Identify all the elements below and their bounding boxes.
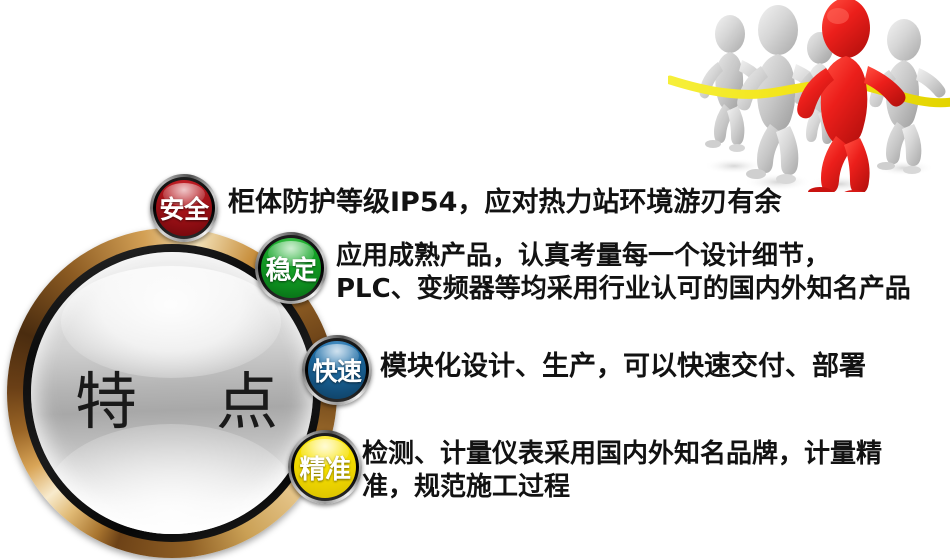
- badge-precision[interactable]: 精准: [288, 430, 362, 504]
- badge-speed[interactable]: 快速: [302, 335, 372, 405]
- badge-label: 精准: [288, 430, 362, 504]
- bullet-text-speed: 模块化设计、生产，可以快速交付、部署: [380, 350, 940, 385]
- badge-label: 快速: [302, 335, 372, 405]
- runners-finish-line-illustration: [668, 0, 950, 192]
- bullet-text-stability: 应用成熟产品，认真考量每一个设计细节， PLC、变频器等均采用行业认可的国内外知…: [336, 240, 946, 307]
- slide-canvas: 特 点 安全 柜体防护等级IP54，应对热力站环境游刃有余 稳定 应用成熟产品，…: [0, 0, 950, 560]
- bullet-text-precision: 检测、计量仪表采用国内外知名品牌，计量精 准，规范施工过程: [362, 438, 950, 505]
- badge-label: 稳定: [255, 232, 327, 304]
- badge-label: 安全: [150, 174, 218, 242]
- badge-safety[interactable]: 安全: [150, 174, 218, 242]
- badge-stability[interactable]: 稳定: [255, 232, 327, 304]
- bullet-text-safety: 柜体防护等级IP54，应对热力站环境游刃有余: [228, 186, 928, 221]
